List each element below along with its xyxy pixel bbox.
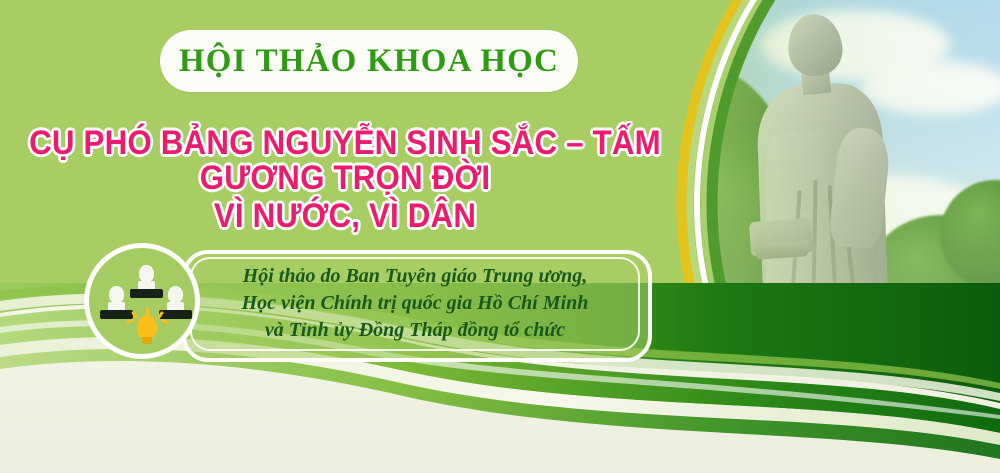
headline-line-2: VÌ NƯỚC, VÌ DÂN <box>28 199 663 234</box>
lightbulb-ray <box>126 319 135 324</box>
person-head-icon <box>168 286 183 303</box>
page-title: HỘI THẢO KHOA HỌC <box>179 43 559 80</box>
desk-icon <box>130 289 163 298</box>
subtitle-line-3: và Tỉnh ủy Đồng Tháp đồng tổ chức <box>265 317 565 344</box>
subtitle-line-2: Học viện Chính trị quốc gia Hồ Chí Minh <box>242 290 589 317</box>
person-head-icon <box>139 265 154 282</box>
person-head-icon <box>109 286 124 303</box>
lightbulb-ray <box>161 319 170 324</box>
conference-people-lightbulb-icon <box>84 243 200 359</box>
conference-banner: CỤ PHÓ BẢNG NGUYỄN SINH SẮC ( 1862 - 192… <box>0 0 1000 473</box>
subtitle-block: Hội thảo do Ban Tuyên giáo Trung ương, H… <box>82 243 644 361</box>
desk-icon <box>159 310 192 319</box>
lightbulb-icon <box>137 315 157 339</box>
subtitle-text: Hội thảo do Ban Tuyên giáo Trung ương, H… <box>200 261 630 345</box>
headline: CỤ PHÓ BẢNG NGUYỄN SINH SẮC – TẤM GƯƠNG … <box>0 126 690 234</box>
headline-line-1: CỤ PHÓ BẢNG NGUYỄN SINH SẮC – TẤM GƯƠNG … <box>28 126 663 195</box>
desk-icon <box>100 310 133 319</box>
subtitle-line-1: Hội thảo do Ban Tuyên giáo Trung ương, <box>243 263 588 290</box>
title-pill: HỘI THẢO KHOA HỌC <box>160 30 578 92</box>
